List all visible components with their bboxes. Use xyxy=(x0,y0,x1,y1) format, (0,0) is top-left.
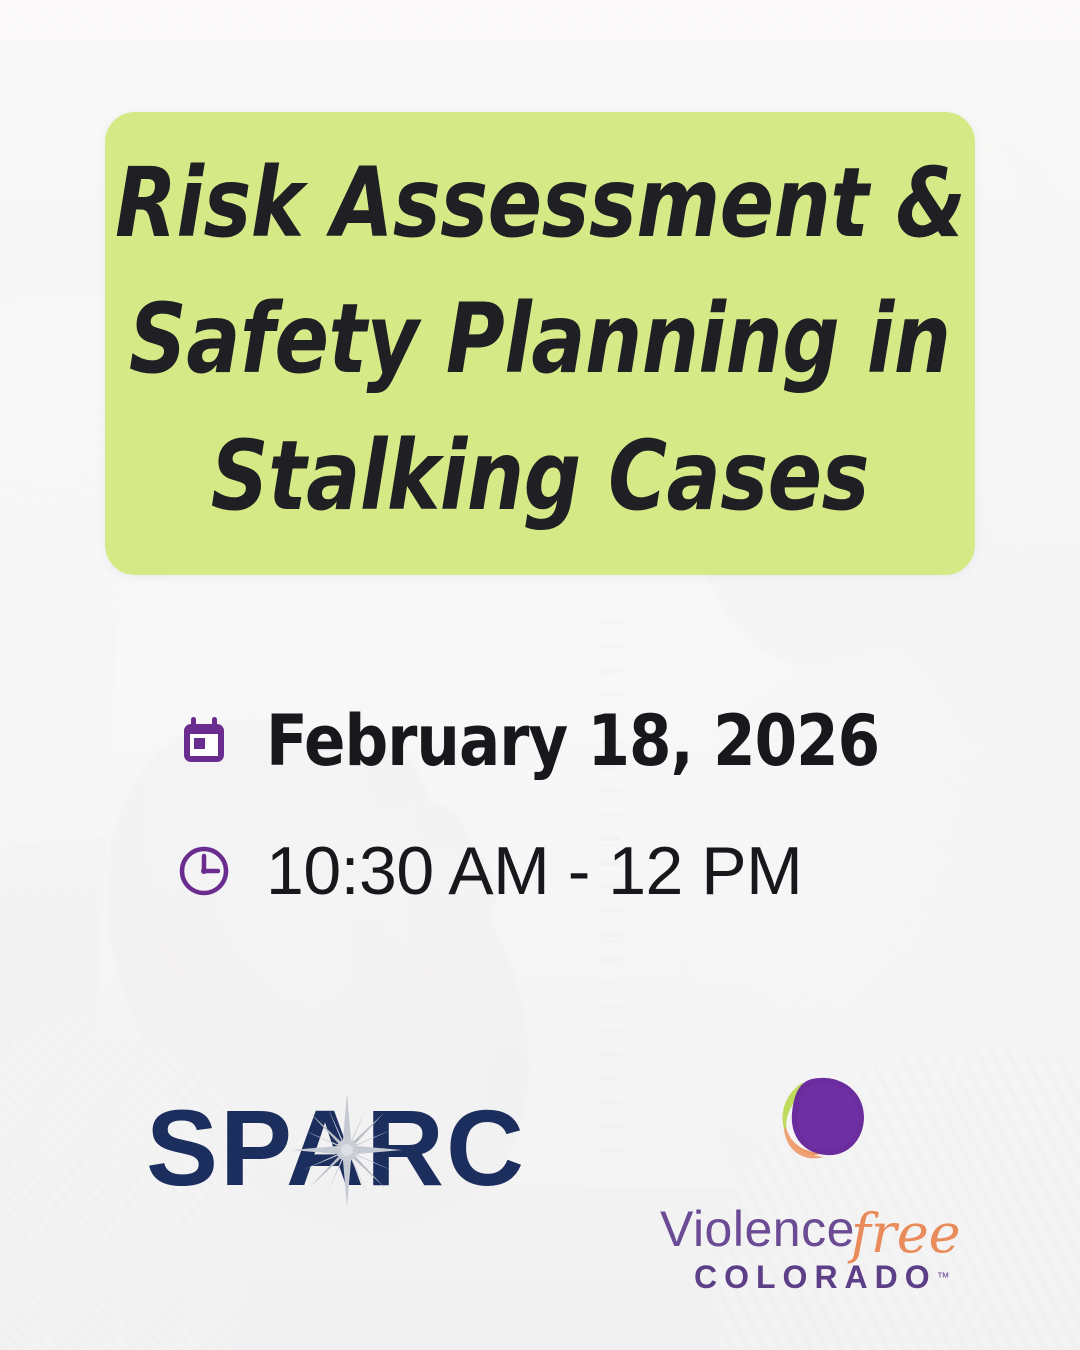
title-card: Risk Assessment & Safety Planning in Sta… xyxy=(105,112,975,575)
calendar-icon xyxy=(176,713,232,769)
vfc-word-colorado: COLORADO xyxy=(694,1259,937,1295)
event-time-row: 10:30 AM - 12 PM xyxy=(176,825,936,917)
page-title-line-3: Stalking Cases xyxy=(211,408,869,544)
vfc-word-free: free xyxy=(851,1202,961,1265)
vfc-colorado-row: COLORADO™ xyxy=(694,1259,950,1296)
event-graphic-canvas: Risk Assessment & Safety Planning in Sta… xyxy=(0,0,1080,1350)
page-title-line-2: Safety Planning in xyxy=(129,271,951,407)
page-title-line-1: Risk Assessment & xyxy=(115,135,965,271)
event-details: February 18, 2026 10:30 AM - 12 PM xyxy=(176,695,936,917)
sparc-logo: SPARC xyxy=(146,1083,546,1213)
violence-free-wordmark: Violencefree xyxy=(660,1201,920,1255)
vfc-word-violence: Violence xyxy=(660,1201,855,1257)
trademark-symbol: ™ xyxy=(937,1270,950,1285)
violence-free-colorado-logo: Violencefree COLORADO™ xyxy=(660,1073,920,1253)
clock-icon xyxy=(176,843,232,899)
event-date-value: February 18, 2026 xyxy=(266,700,879,782)
abstract-petal-mark-icon xyxy=(768,1073,876,1173)
event-time-value: 10:30 AM - 12 PM xyxy=(266,832,802,910)
event-date-row: February 18, 2026 xyxy=(176,695,936,787)
logo-row: SPARC xyxy=(0,1065,1080,1265)
sparc-wordmark: SPARC xyxy=(146,1083,546,1213)
